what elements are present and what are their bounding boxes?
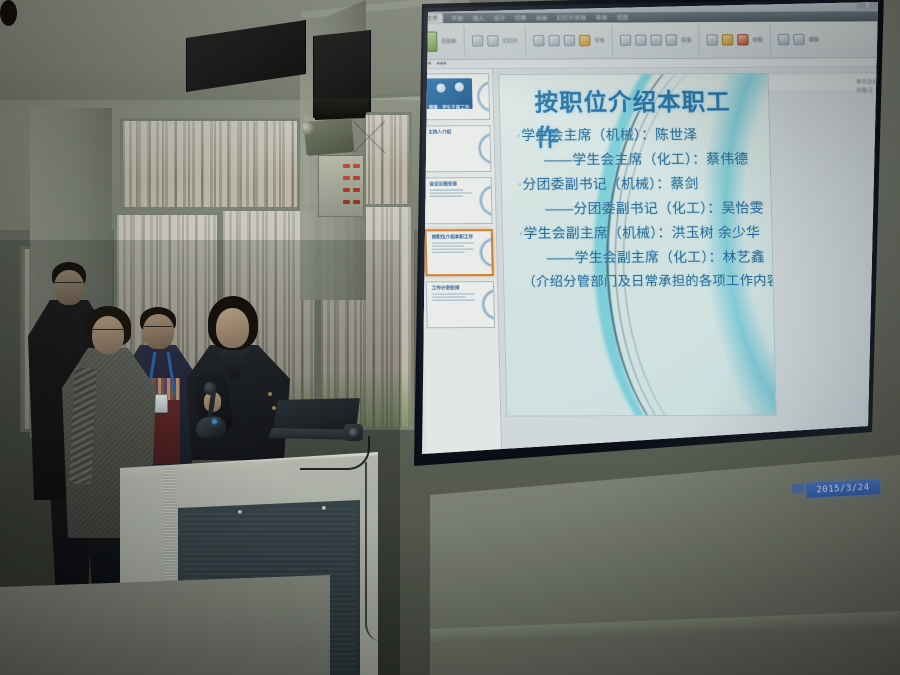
thumbnail-swoosh xyxy=(472,231,491,274)
hair-bun xyxy=(0,0,17,26)
eyeglasses-icon xyxy=(93,329,123,334)
shape-outline-icon[interactable] xyxy=(737,34,748,45)
layout-icon[interactable] xyxy=(487,35,498,46)
slide-body-text[interactable]: ◦学生会主席（机械）：陈世泽 ——学生会主席（化工）：蔡伟德 ◦分团委副书记（机… xyxy=(517,123,748,290)
mouse-led-icon xyxy=(212,419,217,424)
ribbon-group-clipboard[interactable]: 剪贴板 xyxy=(423,26,466,57)
projector-screen-surface: 学生干部.ppt 文件 开始 插入 设计 切换 动画 幻灯片放映 审阅 视图 xyxy=(416,2,878,454)
tab-slideshow[interactable]: 幻灯片放映 xyxy=(557,13,587,21)
thumbnail-swoosh xyxy=(470,74,489,119)
slide-thumbnail-4[interactable]: 4 按职位介绍本职工作 xyxy=(424,229,493,276)
align-center-icon[interactable] xyxy=(666,35,677,46)
slide-bullet-4: ——分团委副书记（化工）：吴怡雯 xyxy=(519,196,746,217)
underline-icon[interactable] xyxy=(564,35,575,46)
ceiling-speaker-right-lower xyxy=(313,98,369,120)
thumbnail-swoosh xyxy=(471,126,490,171)
notes-pane[interactable]: 单击此处添加备注 xyxy=(768,72,878,90)
ribbon-group-slides[interactable]: 幻灯片 xyxy=(472,25,527,56)
panel-led-4 xyxy=(353,176,360,180)
ribbon-group-font[interactable]: 字体 xyxy=(533,25,613,56)
wall-control-panel[interactable] xyxy=(318,155,364,217)
lamp-lens-icon xyxy=(301,122,314,135)
window-glare xyxy=(123,121,297,207)
thumbnail-text-line xyxy=(432,296,466,298)
tab-view[interactable]: 视图 xyxy=(617,13,629,21)
eyeglasses-icon xyxy=(144,326,172,331)
tab-transitions[interactable]: 切换 xyxy=(515,14,527,22)
screenshot-root: 学生干部.ppt 文件 开始 插入 设计 切换 动画 幻灯片放映 审阅 视图 xyxy=(0,0,900,675)
ribbon[interactable]: 剪贴板 幻灯片 字体 xyxy=(417,21,878,60)
slide-thumbnail-2[interactable]: 2 主持人介绍 xyxy=(422,125,491,172)
avatar-icon xyxy=(436,83,445,92)
panel-led-2 xyxy=(353,164,360,168)
select-icon[interactable] xyxy=(793,34,804,45)
ribbon-group-drawing[interactable]: 绘图 xyxy=(706,24,771,55)
bullet-marker-icon: ◦ xyxy=(518,180,521,189)
power-cable-drop xyxy=(365,462,395,642)
id-badge xyxy=(154,394,168,413)
ribbon-group-label: 编辑 xyxy=(809,36,819,43)
thumbnail-text-line xyxy=(432,293,475,295)
thumbnail-swoosh xyxy=(472,178,491,223)
panel-led-7 xyxy=(343,200,350,204)
numbering-icon[interactable] xyxy=(635,35,646,46)
podium-screw xyxy=(322,506,326,510)
slides-tab-label[interactable]: ●●● xyxy=(436,61,446,67)
date-stamp-text: 2015/3/24 xyxy=(816,482,870,495)
thumbnail-text-line xyxy=(430,189,464,191)
tab-animations[interactable]: 动画 xyxy=(536,14,548,22)
slide-bullet-1: ◦学生会主席（机械）：陈世泽 xyxy=(517,123,744,144)
thumbnail-title: 健康 · 学生干部工作 xyxy=(429,105,470,110)
new-slide-icon[interactable] xyxy=(472,35,483,46)
powerpoint-window[interactable]: 学生干部.ppt 文件 开始 插入 设计 切换 动画 幻灯片放映 审阅 视图 xyxy=(416,2,878,454)
ribbon-group-label: 剪贴板 xyxy=(441,38,456,45)
slide-thumbnail-pane[interactable]: 1 健康 · 学生干部工作 2 主持人介绍 xyxy=(418,69,503,454)
speaker-at-podium xyxy=(0,0,17,26)
slide-bullet-text: 学生会副主席（机械）：洪玉树 余少华 xyxy=(523,225,760,241)
date-stamp-tick xyxy=(792,484,804,494)
slide-bullet-7: （介绍分管部门及日常承担的各项工作内容） xyxy=(520,270,747,290)
thumbnail-text-line xyxy=(432,299,475,301)
thumbnail-swoosh xyxy=(475,282,494,327)
slide-bullet-5: ◦学生会副主席（机械）：洪玉树 余少华 xyxy=(519,221,746,242)
current-slide[interactable]: 按职位介绍本职工作 ◦学生会主席（机械）：陈世泽 ——学生会主席（化工）：蔡伟德… xyxy=(498,73,776,417)
ppt-work-area: 1 健康 · 学生干部工作 2 主持人介绍 xyxy=(418,67,878,454)
slide-bullet-3: ◦分团委副书记（机械）：蔡剑 xyxy=(518,172,745,193)
slide-editing-area[interactable]: 按职位介绍本职工作 ◦学生会主席（机械）：陈世泽 ——学生会主席（化工）：蔡伟德… xyxy=(493,67,878,454)
face xyxy=(92,316,124,354)
window-controls xyxy=(857,2,878,9)
ribbon-group-label: 字体 xyxy=(594,37,604,44)
tab-design[interactable]: 设计 xyxy=(494,14,506,22)
panel-led-3 xyxy=(343,176,350,180)
slide-bullet-text: 分团委副书记（机械）：蔡剑 xyxy=(522,176,699,192)
italic-icon[interactable] xyxy=(548,35,559,46)
slide-bullet-text: 学生会主席（机械）：陈世泽 xyxy=(521,127,698,143)
jacket-button xyxy=(272,406,276,410)
ribbon-group-editing[interactable]: 编辑 xyxy=(778,24,827,55)
thumbnail-text-line xyxy=(432,245,465,247)
slide-thumbnail-3[interactable]: 3 会议议程安排 xyxy=(423,177,492,224)
bullets-icon[interactable] xyxy=(620,35,631,46)
eyeglasses-icon xyxy=(55,282,82,287)
thumbnail-text-line xyxy=(430,195,464,197)
slide-thumbnail-5[interactable]: 5 工作计划安排 xyxy=(426,281,495,328)
face xyxy=(143,314,174,349)
bullet-marker-icon: ◦ xyxy=(519,229,522,238)
face xyxy=(54,270,84,305)
align-left-icon[interactable] xyxy=(650,35,661,46)
window-upper-left xyxy=(120,118,300,210)
ribbon-group-label: 绘图 xyxy=(753,36,763,43)
ribbon-group-label: 幻灯片 xyxy=(503,37,518,44)
tab-insert[interactable]: 插入 xyxy=(473,14,485,22)
ribbon-group-paragraph[interactable]: 段落 xyxy=(620,25,700,56)
slide-thumbnail-1[interactable]: 1 健康 · 学生干部工作 xyxy=(421,73,490,120)
tab-review[interactable]: 审阅 xyxy=(596,13,608,21)
ribbon-group-label: 段落 xyxy=(681,36,691,43)
panel-led-6 xyxy=(353,188,360,192)
thumbnail-text-line xyxy=(432,251,465,253)
bold-icon[interactable] xyxy=(533,35,544,46)
find-icon[interactable] xyxy=(778,34,789,45)
thumbnail-number: 5 xyxy=(426,284,427,290)
font-color-icon[interactable] xyxy=(579,35,590,46)
podium-screw xyxy=(238,510,242,514)
shape-fill-icon[interactable] xyxy=(722,34,733,45)
panel-led-1 xyxy=(343,164,350,168)
avatar-icon xyxy=(455,82,464,91)
face xyxy=(216,308,249,348)
panel-led-5 xyxy=(343,188,350,192)
panel-led-8 xyxy=(353,200,360,204)
floor xyxy=(0,575,330,675)
tab-home[interactable]: 开始 xyxy=(452,14,464,22)
slide-bullet-6: ——学生会副主席（化工）：林艺鑫 xyxy=(520,245,747,266)
power-cable xyxy=(300,436,370,470)
speaker-mount-bracket xyxy=(352,120,386,154)
shapes-icon[interactable] xyxy=(707,34,718,45)
bullet-marker-icon: ◦ xyxy=(517,131,520,140)
minimize-button[interactable] xyxy=(857,2,866,9)
slide-bullet-2: ——学生会主席（化工）：蔡伟德 xyxy=(517,147,744,168)
jacket-button xyxy=(268,392,272,396)
thumbnail-text-line xyxy=(432,248,474,250)
thumbnail-text-line xyxy=(430,192,473,194)
restore-button[interactable] xyxy=(869,2,878,9)
thumbnail-text-line xyxy=(432,242,474,244)
